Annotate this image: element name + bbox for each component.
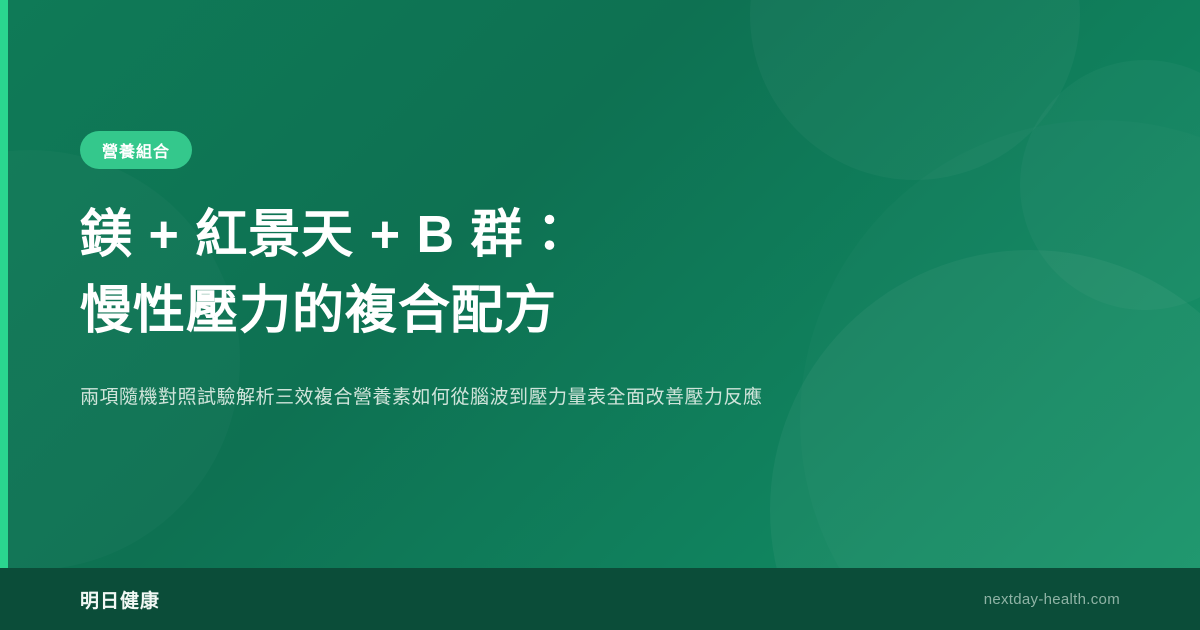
social-card-canvas: 營養組合 鎂 + 紅景天 + B 群： 慢性壓力的複合配方 兩項隨機對照試驗解析… — [0, 0, 1200, 630]
footer-bar: 明日健康 nextday-health.com — [0, 568, 1200, 630]
footer-brand: 明日健康 — [80, 586, 160, 613]
footer-url: nextday-health.com — [984, 591, 1120, 608]
left-accent-bar — [0, 0, 8, 568]
page-subtitle: 兩項隨機對照試驗解析三效複合營養素如何從腦波到壓力量表全面改善壓力反應 — [80, 383, 980, 413]
category-badge: 營養組合 — [80, 131, 192, 169]
page-title: 鎂 + 紅景天 + B 群： 慢性壓力的複合配方 — [80, 197, 980, 349]
hero-content: 營養組合 鎂 + 紅景天 + B 群： 慢性壓力的複合配方 兩項隨機對照試驗解析… — [80, 0, 1080, 568]
